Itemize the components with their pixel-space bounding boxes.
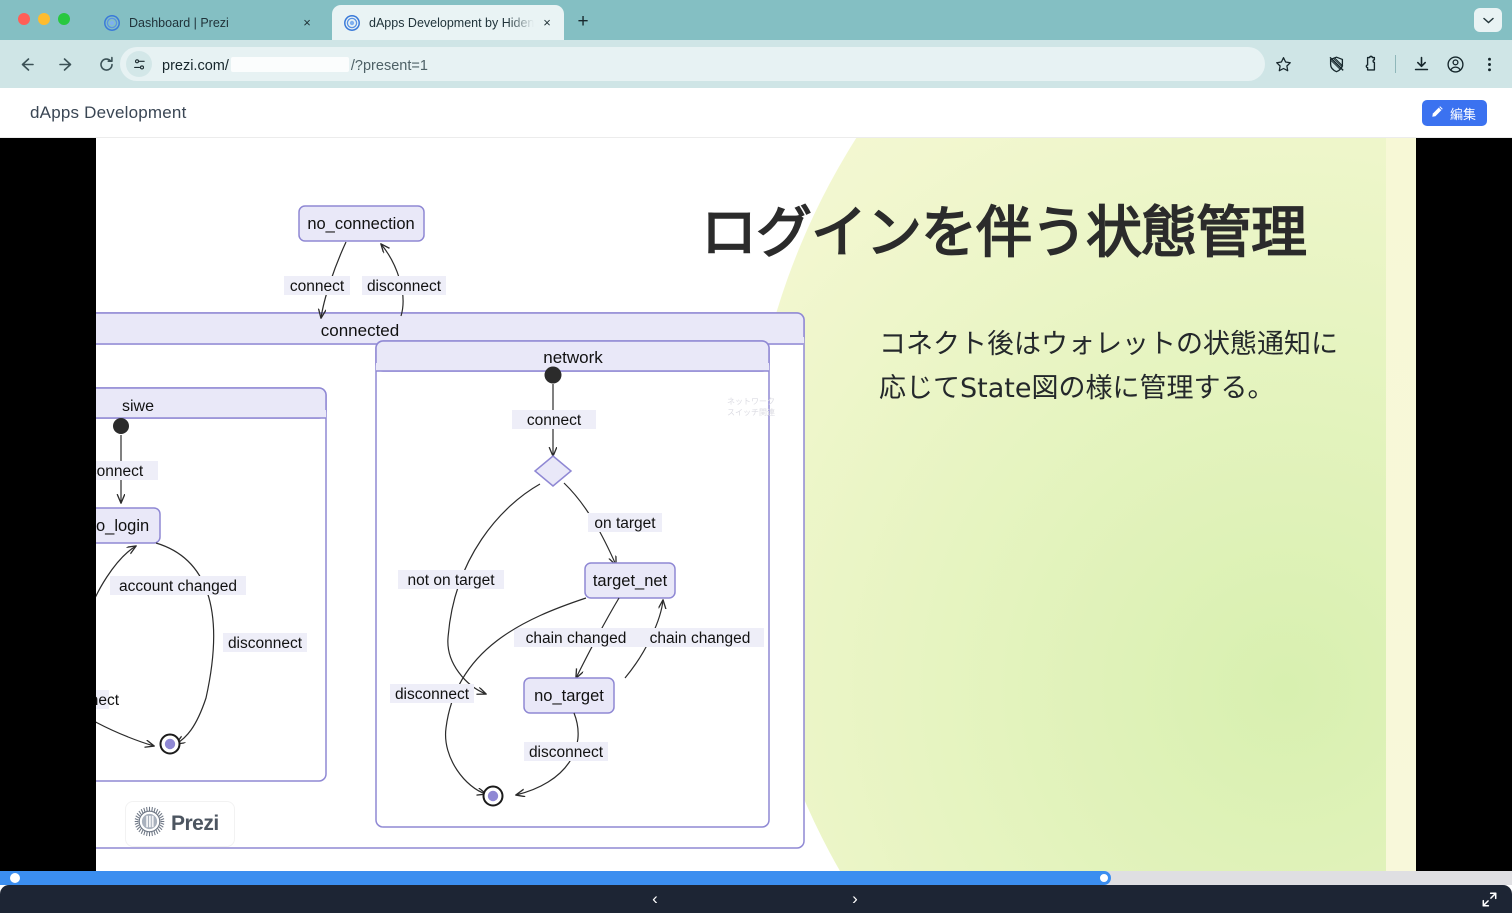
svg-text:chain changed: chain changed [526,630,627,647]
prezi-watermark[interactable]: Prezi [126,802,234,846]
back-button[interactable] [10,48,42,80]
svg-text:disconnect: disconnect [367,278,442,295]
slide-title: ログインを伴う状態管理 [701,202,1401,266]
slide-body-line-1: コネクト後はウォレットの状態通知に [879,323,1399,367]
state-no-target: no_target [524,678,614,713]
close-window-button[interactable] [18,13,30,25]
profile-avatar-icon[interactable] [1440,49,1470,79]
prezi-sunburst-icon [134,806,165,842]
svg-text:disconnect: disconnect [96,692,120,709]
previous-slide-button[interactable]: ‹ [633,885,677,913]
presentation-stage[interactable]: connected siwe [0,138,1512,871]
svg-text:account changed: account changed [119,578,237,595]
minimize-window-button[interactable] [38,13,50,25]
presentation-title: dApps Development [30,103,187,123]
svg-text:network: network [543,348,603,367]
svg-text:disconnect: disconnect [529,744,604,761]
maximize-window-button[interactable] [58,13,70,25]
diagram-annotation-line1: ネットワーク [727,397,775,406]
toolbar-divider [1395,55,1396,73]
slide-canvas[interactable]: connected siwe [96,138,1416,871]
fullscreen-expand-icon[interactable] [1476,887,1502,911]
svg-text:no_target: no_target [534,687,604,705]
downloads-icon[interactable] [1406,49,1436,79]
tab-dashboard[interactable]: Dashboard | Prezi × [92,5,324,40]
prezi-watermark-label: Prezi [171,812,219,836]
network-initial-node [545,367,562,384]
url-redacted-segment [231,57,349,72]
network-final-node [484,787,503,806]
tab-strip: Dashboard | Prezi × dApps Development by… [0,0,1512,40]
svg-text:target_net: target_net [593,572,668,590]
url-text: prezi.com/ /?present=1 [162,55,428,74]
progress-handle[interactable] [1097,871,1111,885]
svg-text:connect: connect [290,278,345,295]
bookmark-star-icon[interactable] [1269,50,1297,78]
tab-title: Dashboard | Prezi [129,16,294,30]
slide-body-line-2: 応じてState図の様に管理する。 [879,367,1399,411]
address-bar[interactable]: prezi.com/ /?present=1 [120,47,1265,81]
presentation-progress-bar[interactable] [0,871,1512,885]
progress-start-marker [10,873,20,883]
edit-button-label: 編集 [1450,104,1476,123]
url-query: /?present=1 [351,58,428,74]
svg-text:connected: connected [321,321,399,340]
diagram-annotation-line2: スイッチ関連 [727,407,775,417]
new-tab-button[interactable]: + [570,9,596,35]
svg-text:siwe: siwe [122,398,154,415]
toolbar-icon-group [1321,48,1504,80]
window-traffic-lights [18,13,70,25]
tab-close-icon[interactable]: × [298,14,316,32]
prezi-favicon-icon [104,15,120,31]
svg-text:connect: connect [96,463,144,480]
siwe-initial-node [113,418,129,434]
svg-text:no_login: no_login [96,517,149,535]
tracking-protection-off-icon[interactable] [1321,49,1351,79]
svg-text:no_connection: no_connection [307,215,414,233]
browser-window: Dashboard | Prezi × dApps Development by… [0,0,1512,913]
prezi-app-header: dApps Development 編集 [0,88,1512,138]
svg-text:disconnect: disconnect [395,686,470,703]
slide-body-text: コネクト後はウォレットの状態通知に 応じてState図の様に管理する。 [879,323,1399,410]
tab-close-icon[interactable]: × [538,14,556,32]
pencil-icon [1431,105,1444,121]
forward-button[interactable] [50,48,82,80]
player-control-bar: ‹ › [0,885,1512,913]
state-no-login: no_login [96,508,160,543]
chevron-down-icon[interactable] [1474,8,1502,32]
page-settings-icon[interactable] [126,51,152,77]
svg-text:connect: connect [527,412,582,429]
tab-title: dApps Development by Hiden [369,16,534,30]
reload-button[interactable] [90,48,122,80]
state-target-net: target_net [585,563,675,598]
prezi-favicon-icon [344,15,360,31]
next-slide-button[interactable]: › [833,885,877,913]
svg-text:on target: on target [594,515,656,532]
state-no-connection: no_connection [299,206,424,241]
extensions-puzzle-icon[interactable] [1355,49,1385,79]
svg-text:chain changed: chain changed [650,630,751,647]
browser-chrome: Dashboard | Prezi × dApps Development by… [0,0,1512,88]
edit-button[interactable]: 編集 [1422,100,1487,126]
progress-fill [0,871,1104,885]
svg-text:disconnect: disconnect [228,635,303,652]
url-host: prezi.com/ [162,58,229,74]
siwe-final-node [161,735,180,754]
svg-text:not on target: not on target [407,572,495,589]
chrome-menu-icon[interactable] [1474,49,1504,79]
tab-dapps-development[interactable]: dApps Development by Hiden × [332,5,564,40]
